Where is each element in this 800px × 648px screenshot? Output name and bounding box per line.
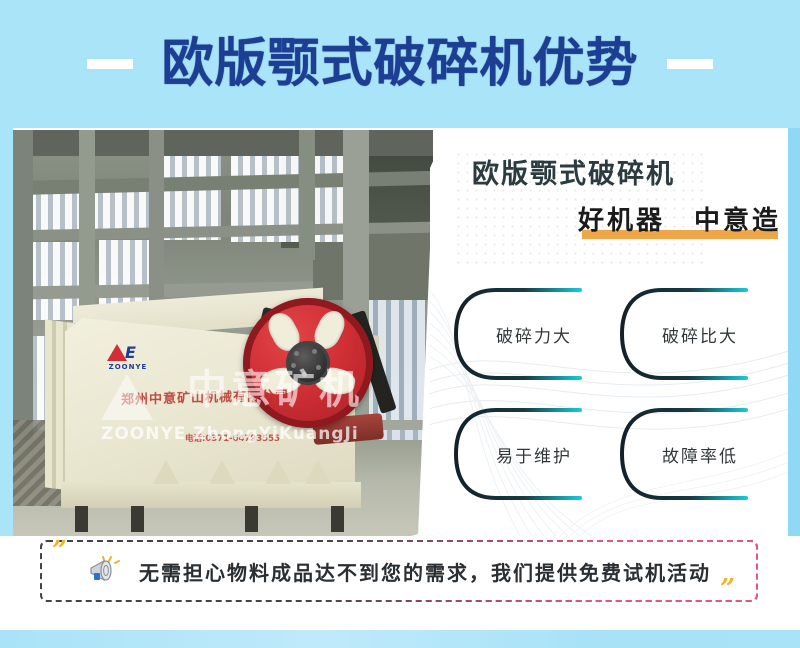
promo-banner-content: 无需担心物料成品达不到您的需求，我们提供免费试机活动 bbox=[40, 540, 758, 602]
hub-bolt bbox=[316, 365, 321, 370]
crusher-base bbox=[61, 482, 361, 508]
hub-bolt bbox=[312, 349, 317, 354]
logo-letter-e: E bbox=[125, 345, 136, 361]
crusher-leg bbox=[245, 506, 258, 532]
panel-title: 欧版颚式破碎机 bbox=[472, 152, 675, 191]
machine-phone-text: 电话:0371-64793555 bbox=[185, 432, 385, 444]
product-photo: E ZOONYE 郑州中意矿山机械有限公司 电话:0371-64793555 中… bbox=[13, 130, 433, 536]
crusher-leg bbox=[131, 506, 144, 532]
hub-bolt bbox=[294, 351, 299, 356]
promo-banner-text: 无需担心物料成品达不到您的需求，我们提供免费试机活动 bbox=[139, 557, 711, 586]
crusher-gusset bbox=[265, 460, 291, 484]
page-title: 欧版颚式破碎机优势 bbox=[161, 38, 638, 90]
header-dash-right-icon bbox=[667, 59, 713, 69]
left-gutter bbox=[0, 128, 13, 536]
logo-brand-text: ZOONYE bbox=[105, 363, 151, 371]
brand-logo: E ZOONYE bbox=[105, 342, 151, 374]
crusher-leg bbox=[75, 506, 88, 532]
panel-subtitle-group: 好机器 中意造 bbox=[578, 200, 781, 237]
roof-beam bbox=[13, 130, 433, 156]
feature-label: 易于维护 bbox=[496, 442, 572, 467]
hub-bolt bbox=[291, 363, 296, 368]
feature-label: 故障率低 bbox=[662, 442, 738, 467]
flywheel-hub bbox=[286, 341, 330, 385]
feature-item-0[interactable]: 破碎力大 bbox=[452, 280, 614, 388]
feature-item-1[interactable]: 破碎比大 bbox=[618, 280, 780, 388]
page-header: 欧版颚式破碎机优势 bbox=[0, 0, 800, 128]
flywheel bbox=[243, 298, 373, 428]
feature-label: 破碎比大 bbox=[662, 322, 738, 347]
feature-item-2[interactable]: 易于维护 bbox=[452, 400, 614, 508]
promo-page: 欧版颚式破碎机优势 bbox=[0, 0, 800, 648]
structural-column bbox=[299, 130, 315, 260]
crusher-gusset bbox=[209, 460, 235, 484]
feature-item-3[interactable]: 故障率低 bbox=[618, 400, 780, 508]
info-panel: 欧版颚式破碎机 好机器 中意造 bbox=[430, 128, 788, 536]
crusher-gusset bbox=[305, 460, 331, 484]
structural-column bbox=[13, 130, 33, 470]
feature-label: 破碎力大 bbox=[496, 322, 572, 347]
hub-bolt bbox=[302, 372, 307, 377]
header-dash-left-icon bbox=[87, 59, 133, 69]
content-area: E ZOONYE 郑州中意矿山机械有限公司 电话:0371-64793555 中… bbox=[0, 128, 800, 648]
structural-column bbox=[149, 130, 164, 300]
right-rail bbox=[788, 128, 800, 536]
window bbox=[29, 188, 81, 234]
crusher-gusset bbox=[153, 460, 179, 484]
megaphone-icon bbox=[87, 556, 123, 586]
bottom-strip bbox=[0, 630, 800, 648]
feature-list: 破碎力大 破碎比大 易于维护 bbox=[452, 280, 788, 516]
crusher-leg bbox=[331, 506, 344, 532]
triangle-icon bbox=[107, 344, 127, 361]
panel-subtitle: 好机器 中意造 bbox=[578, 206, 781, 236]
